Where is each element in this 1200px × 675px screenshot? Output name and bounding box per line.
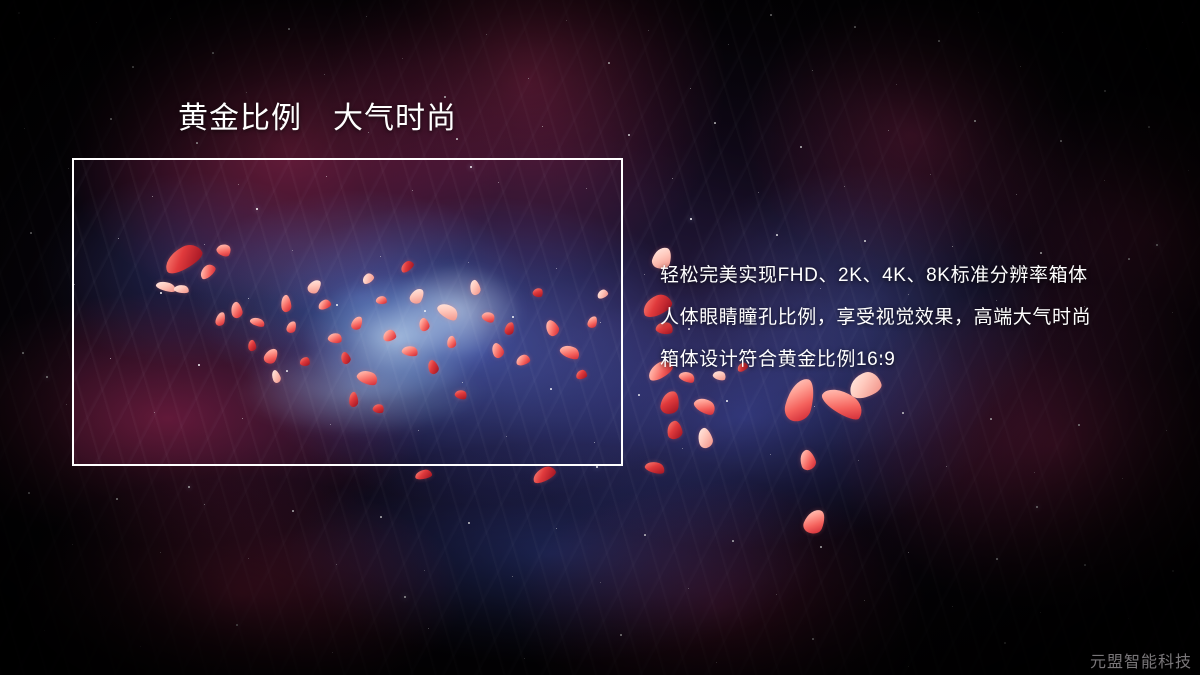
flower-petal bbox=[530, 464, 557, 486]
flower-petal bbox=[317, 298, 332, 311]
star-dot bbox=[336, 304, 338, 306]
star-dot bbox=[326, 176, 327, 177]
star-dot bbox=[1060, 140, 1062, 142]
star-dot bbox=[1172, 570, 1174, 572]
flower-petal bbox=[446, 335, 457, 348]
star-dot bbox=[288, 28, 290, 30]
star-dot bbox=[864, 240, 866, 242]
framed-panel-artwork bbox=[72, 158, 623, 466]
flower-petal bbox=[695, 426, 714, 449]
star-dot bbox=[1146, 48, 1147, 49]
star-dot bbox=[374, 376, 376, 378]
star-dot bbox=[714, 122, 716, 124]
star-dot bbox=[292, 250, 293, 251]
flower-petal bbox=[339, 351, 352, 366]
feature-description-block: 轻松完美实现FHD、2K、4K、8K标准分辨率箱体 人体眼睛瞳孔比例，享受视觉效… bbox=[660, 255, 1180, 381]
star-dot bbox=[366, 16, 367, 17]
star-dot bbox=[776, 234, 778, 236]
flower-petal bbox=[348, 392, 359, 408]
star-dot bbox=[566, 20, 567, 21]
star-dot bbox=[1020, 66, 1021, 67]
flower-petal bbox=[247, 339, 257, 351]
star-dot bbox=[424, 570, 425, 571]
star-dot bbox=[118, 238, 119, 239]
star-dot bbox=[952, 246, 953, 247]
star-dot bbox=[628, 134, 630, 136]
star-dot bbox=[1062, 32, 1063, 33]
star-dot bbox=[412, 190, 413, 191]
star-dot bbox=[116, 498, 118, 500]
star-dot bbox=[732, 540, 734, 542]
star-dot bbox=[286, 370, 288, 372]
star-dot bbox=[18, 12, 20, 14]
star-dot bbox=[24, 128, 25, 129]
star-dot bbox=[946, 466, 947, 467]
star-dot bbox=[1148, 126, 1150, 128]
flower-petal bbox=[160, 240, 205, 277]
flower-petal bbox=[575, 369, 587, 380]
star-dot bbox=[292, 510, 294, 512]
star-dot bbox=[248, 558, 249, 559]
star-dot bbox=[68, 168, 69, 169]
feature-line-3: 箱体设计符合黄金比例16:9 bbox=[660, 339, 1180, 381]
star-dot bbox=[424, 310, 426, 312]
star-dot bbox=[238, 184, 239, 185]
star-dot bbox=[996, 558, 998, 560]
panel-petal-field bbox=[72, 158, 623, 466]
star-dot bbox=[110, 118, 112, 120]
flower-petal bbox=[306, 277, 324, 296]
star-dot bbox=[1036, 506, 1038, 508]
flower-petal bbox=[417, 317, 431, 333]
star-dot bbox=[908, 552, 909, 553]
flower-petal bbox=[229, 301, 244, 319]
flower-petal bbox=[361, 272, 376, 286]
star-dot bbox=[110, 358, 111, 359]
star-dot bbox=[800, 146, 802, 148]
star-dot bbox=[512, 576, 513, 577]
star-dot bbox=[336, 564, 337, 565]
star-dot bbox=[1156, 244, 1158, 246]
star-dot bbox=[140, 646, 141, 647]
flower-petal bbox=[530, 464, 557, 466]
flower-petal bbox=[782, 376, 818, 425]
flower-petal bbox=[489, 341, 506, 359]
star-dot bbox=[990, 418, 992, 420]
star-dot bbox=[402, 58, 403, 59]
star-dot bbox=[132, 66, 134, 68]
star-dot bbox=[66, 404, 67, 405]
star-dot bbox=[256, 208, 258, 210]
slide-root: 黄金比例 大气时尚 轻松完美实现FHD、2K、4K、8K标准分辨率箱体 人体眼睛… bbox=[0, 0, 1200, 675]
flower-petal bbox=[426, 359, 441, 376]
star-dot bbox=[1004, 642, 1006, 644]
star-dot bbox=[160, 552, 161, 553]
star-dot bbox=[152, 196, 153, 197]
flower-petal bbox=[382, 329, 397, 342]
star-dot bbox=[644, 274, 645, 275]
star-dot bbox=[672, 178, 673, 179]
star-dot bbox=[820, 546, 822, 548]
flower-petal bbox=[375, 295, 387, 304]
star-dot bbox=[212, 52, 214, 54]
flower-petal bbox=[262, 346, 280, 366]
star-dot bbox=[204, 244, 205, 245]
flower-petal bbox=[327, 332, 343, 345]
feature-line-1: 轻松完美实现FHD、2K、4K、8K标准分辨率箱体 bbox=[660, 255, 1180, 297]
flower-petal bbox=[280, 294, 292, 312]
star-dot bbox=[930, 174, 931, 175]
star-dot bbox=[1104, 90, 1106, 92]
star-dot bbox=[858, 460, 859, 461]
star-dot bbox=[1016, 194, 1017, 195]
star-dot bbox=[1078, 424, 1080, 426]
star-dot bbox=[854, 26, 856, 28]
star-dot bbox=[600, 322, 601, 323]
star-dot bbox=[1040, 252, 1042, 254]
star-dot bbox=[812, 70, 813, 71]
panel-nebula-wisp bbox=[72, 158, 623, 466]
star-dot bbox=[22, 352, 24, 354]
star-dot bbox=[638, 394, 640, 396]
star-dot bbox=[506, 436, 507, 437]
feature-line-2: 人体眼睛瞳孔比例，享受视觉效果，高端大气时尚 bbox=[660, 297, 1180, 339]
star-dot bbox=[770, 14, 772, 16]
star-dot bbox=[550, 388, 552, 390]
star-dot bbox=[542, 126, 543, 127]
flower-petal bbox=[587, 315, 599, 329]
flower-petal bbox=[350, 315, 364, 332]
flower-petal bbox=[215, 241, 233, 258]
star-dot bbox=[46, 376, 48, 378]
star-dot bbox=[908, 666, 909, 667]
flower-petal bbox=[504, 321, 515, 335]
star-dot bbox=[30, 232, 32, 234]
flower-petal bbox=[155, 279, 177, 294]
star-dot bbox=[594, 442, 595, 443]
flower-petal bbox=[480, 309, 496, 324]
star-dot bbox=[1084, 564, 1086, 566]
star-dot bbox=[456, 138, 458, 140]
star-dot bbox=[242, 418, 243, 419]
flower-petal bbox=[468, 279, 482, 296]
star-dot bbox=[596, 466, 598, 468]
star-dot bbox=[468, 262, 469, 263]
star-dot bbox=[418, 430, 419, 431]
star-dot bbox=[196, 142, 198, 144]
star-dot bbox=[1188, 170, 1189, 171]
star-dot bbox=[74, 284, 75, 285]
star-dot bbox=[96, 22, 97, 23]
star-dot bbox=[688, 588, 689, 589]
star-dot bbox=[1122, 478, 1123, 479]
star-dot bbox=[170, 18, 171, 19]
star-dot bbox=[236, 624, 238, 626]
star-dot bbox=[888, 130, 889, 131]
star-dot bbox=[332, 652, 333, 653]
star-dot bbox=[380, 516, 382, 518]
star-dot bbox=[1182, 22, 1183, 23]
star-dot bbox=[470, 166, 472, 168]
star-dot bbox=[644, 534, 646, 536]
star-dot bbox=[902, 412, 904, 414]
star-dot bbox=[758, 192, 759, 193]
star-dot bbox=[524, 658, 525, 659]
star-dot bbox=[814, 406, 815, 407]
flower-petal bbox=[797, 448, 818, 472]
star-dot bbox=[468, 522, 470, 524]
star-dot bbox=[1166, 430, 1167, 431]
star-dot bbox=[776, 594, 777, 595]
star-dot bbox=[938, 40, 940, 42]
page-title: 黄金比例 大气时尚 bbox=[178, 101, 457, 136]
flower-petal bbox=[692, 394, 718, 418]
star-dot bbox=[428, 628, 429, 629]
star-dot bbox=[600, 582, 601, 583]
star-dot bbox=[648, 30, 649, 31]
flower-petal bbox=[173, 284, 189, 294]
star-dot bbox=[512, 316, 514, 318]
star-dot bbox=[380, 256, 381, 257]
star-dot bbox=[716, 662, 717, 663]
star-dot bbox=[1104, 180, 1105, 181]
panel-nebula-blue bbox=[72, 158, 623, 466]
star-dot bbox=[690, 88, 691, 89]
panel-starfield bbox=[72, 158, 623, 466]
star-dot bbox=[160, 292, 162, 294]
flower-petal bbox=[515, 353, 531, 366]
star-dot bbox=[198, 364, 200, 366]
star-dot bbox=[770, 454, 771, 455]
flower-petal bbox=[644, 459, 666, 476]
star-dot bbox=[528, 78, 529, 79]
flower-petal bbox=[558, 342, 581, 362]
star-dot bbox=[44, 630, 45, 631]
flower-petal bbox=[372, 403, 385, 415]
flower-petal bbox=[819, 382, 868, 425]
star-dot bbox=[246, 92, 247, 93]
flower-petal bbox=[355, 367, 379, 387]
star-dot bbox=[864, 600, 865, 601]
flower-petal bbox=[414, 469, 432, 480]
flower-petal bbox=[532, 287, 544, 299]
flower-petal bbox=[454, 388, 468, 401]
star-dot bbox=[72, 544, 73, 545]
star-dot bbox=[620, 634, 622, 636]
star-dot bbox=[682, 448, 683, 449]
flower-petal bbox=[596, 288, 609, 300]
star-dot bbox=[726, 400, 728, 402]
brand-watermark: 元盟智能科技 bbox=[1090, 648, 1192, 672]
star-dot bbox=[188, 486, 190, 488]
star-dot bbox=[1128, 618, 1129, 619]
flower-petal bbox=[435, 300, 460, 323]
star-dot bbox=[896, 84, 897, 85]
flower-petal bbox=[801, 506, 828, 536]
star-dot bbox=[154, 412, 155, 413]
star-dot bbox=[1040, 612, 1041, 613]
star-dot bbox=[586, 188, 587, 189]
panel-nebula-core bbox=[72, 158, 623, 466]
flower-petal bbox=[665, 420, 683, 441]
star-dot bbox=[608, 62, 610, 64]
star-dot bbox=[728, 44, 729, 45]
star-dot bbox=[462, 382, 463, 383]
flower-petal bbox=[197, 262, 217, 281]
framed-preview-panel[interactable] bbox=[72, 158, 623, 466]
star-dot bbox=[974, 120, 976, 122]
star-dot bbox=[978, 12, 979, 13]
flower-petal bbox=[270, 369, 282, 384]
star-dot bbox=[556, 528, 557, 529]
flower-petal bbox=[399, 259, 416, 274]
flower-petal bbox=[659, 390, 680, 415]
star-dot bbox=[444, 96, 446, 98]
flower-petal bbox=[215, 311, 227, 327]
star-dot bbox=[404, 596, 406, 598]
flower-petal bbox=[543, 318, 562, 338]
star-dot bbox=[330, 424, 331, 425]
panel-nebula-red bbox=[72, 158, 623, 466]
star-dot bbox=[54, 38, 55, 39]
star-dot bbox=[556, 268, 557, 269]
flower-petal bbox=[401, 344, 419, 358]
panel-nebula-base bbox=[72, 158, 623, 466]
star-dot bbox=[248, 298, 249, 299]
star-dot bbox=[498, 182, 499, 183]
flower-petal bbox=[408, 286, 426, 306]
flower-petal bbox=[249, 315, 266, 328]
star-dot bbox=[844, 186, 845, 187]
star-dot bbox=[952, 606, 953, 607]
flower-petal bbox=[286, 320, 298, 334]
star-dot bbox=[28, 492, 30, 494]
star-dot bbox=[204, 504, 205, 505]
flower-petal bbox=[300, 357, 311, 367]
star-dot bbox=[1034, 472, 1035, 473]
star-dot bbox=[324, 74, 325, 75]
star-dot bbox=[486, 34, 487, 35]
star-dot bbox=[690, 218, 692, 220]
star-dot bbox=[812, 638, 814, 640]
